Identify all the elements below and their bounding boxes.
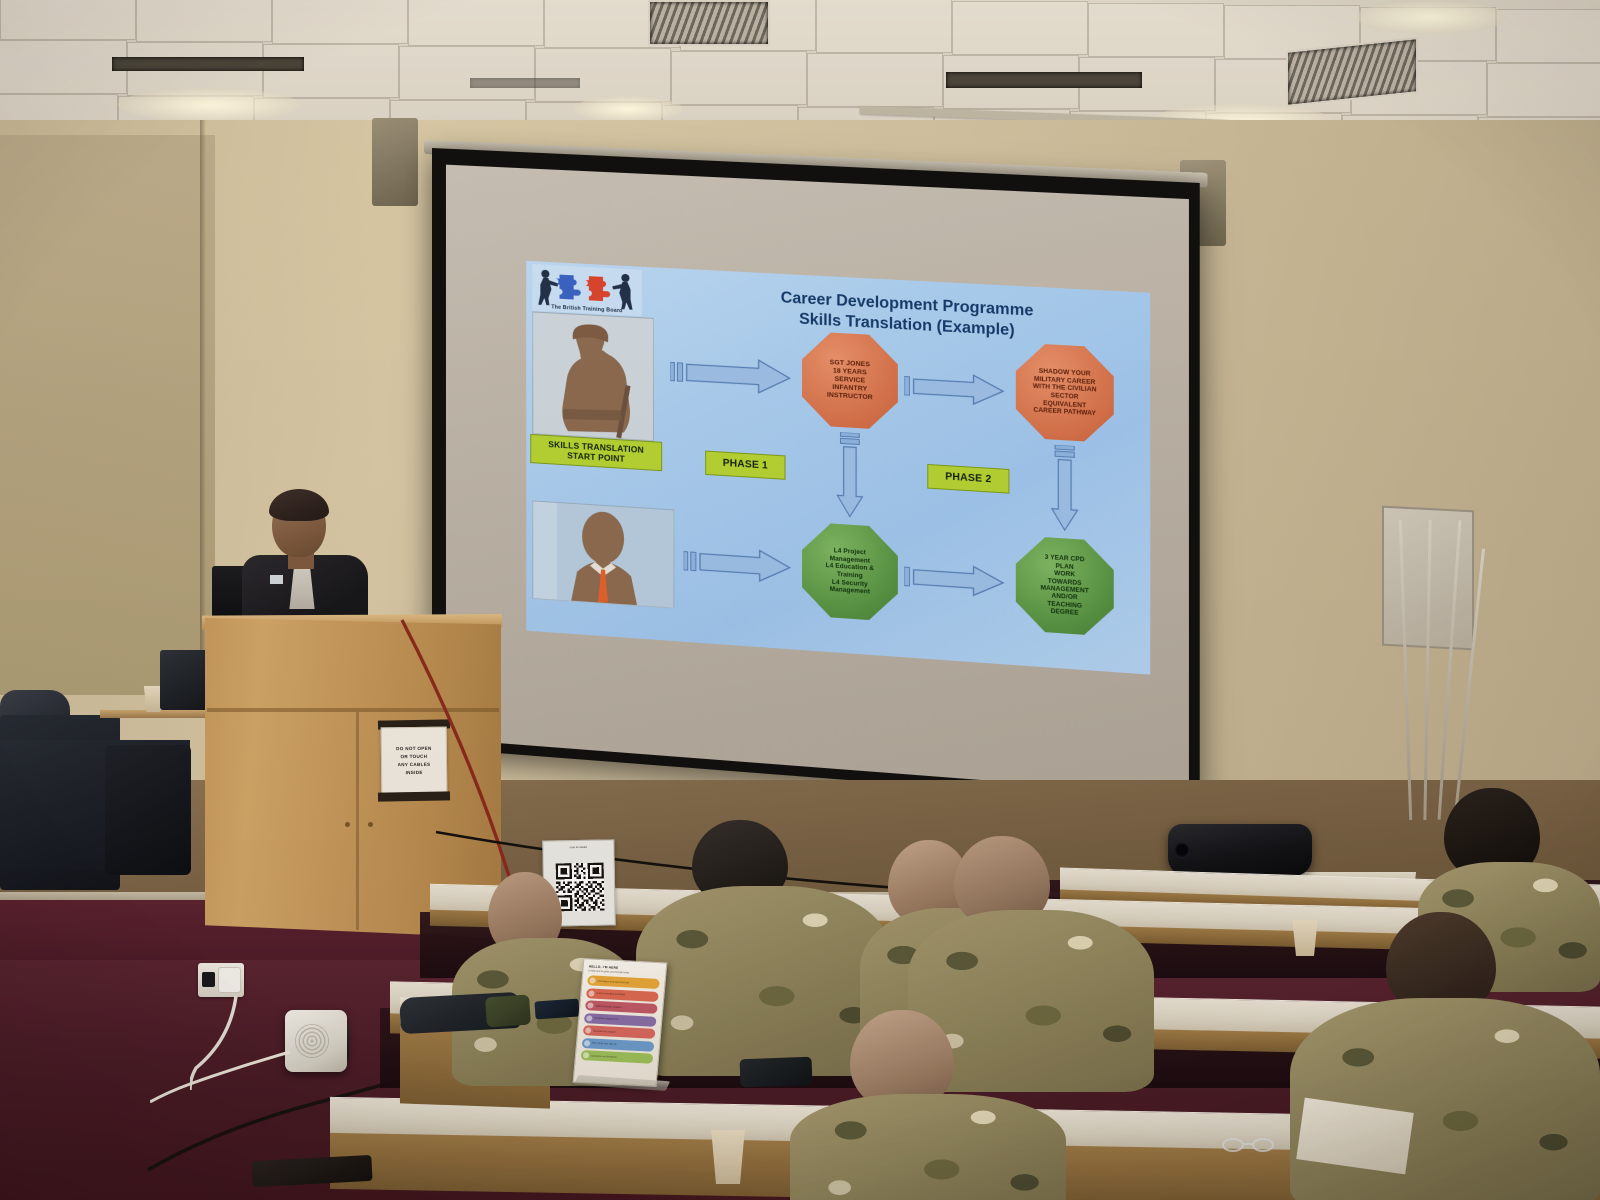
node-shadow-career-text: SHADOW YOURMILITARY CAREERWITH THE CIVIL… [1016, 362, 1114, 423]
projector-lens [1174, 842, 1190, 858]
soldier-uniform [790, 1094, 1066, 1200]
ceiling-tile [272, 0, 408, 44]
bag-strap [485, 995, 531, 1028]
ceiling-vent-slot [470, 78, 580, 88]
label-phase-1: PHASE 1 [705, 451, 785, 481]
projector [1168, 824, 1312, 876]
node-shadow-career: SHADOW YOURMILITARY CAREERWITH THE CIVIL… [1016, 343, 1114, 444]
ceiling-vent-slot [946, 72, 1142, 88]
ceiling-air-grille [648, 0, 770, 46]
classroom-scene: The British Training Board Career Develo… [0, 0, 1600, 1200]
flipchart-easel [1380, 508, 1484, 808]
node-cpd-plan: 3 YEAR CPDPLANWORKTOWARDSMANAGEMENTAND/O… [1016, 535, 1114, 637]
podium-door-split [356, 712, 359, 930]
ceiling-tile [1496, 9, 1600, 63]
arrow-right-2-icon [904, 370, 1005, 407]
ceiling-tile [816, 0, 952, 53]
businessman-silhouette-icon [533, 501, 673, 608]
ceiling-tile [952, 1, 1088, 55]
ceiling-tile [1088, 3, 1224, 57]
ceiling-tile [0, 40, 127, 94]
ceiling-light [573, 96, 683, 122]
arrow-right-4-icon [904, 561, 1005, 599]
ceiling-tile [408, 0, 544, 46]
tent-card-row: Next steps and sign up [582, 1038, 655, 1052]
ceiling-tile [671, 51, 807, 105]
ceiling-vent-slot [112, 57, 304, 71]
arrow-right-3-icon [684, 544, 792, 584]
ceiling-tile [535, 48, 671, 102]
label-phase-2: PHASE 2 [927, 464, 1009, 494]
tent-card-row: Employer engagement [584, 1013, 657, 1027]
ceiling-tile [1487, 63, 1600, 117]
ceiling-light [1356, 0, 1506, 34]
tent-card-row: Career transition workshop [586, 988, 659, 1002]
presenter [236, 493, 376, 628]
node-sgt-jones: SGT JONES18 YEARSSERVICEINFANTRYINSTRUCT… [802, 331, 898, 430]
socket-switch[interactable] [202, 972, 215, 987]
node-cpd-plan-text: 3 YEAR CPDPLANWORKTOWARDSMANAGEMENTAND/O… [1016, 548, 1114, 624]
wall-corner-edge [200, 120, 206, 680]
presenter-hair [269, 489, 329, 521]
presenter-badge [270, 575, 283, 584]
ceiling-tile [263, 44, 399, 98]
soldier-silhouette-icon [533, 312, 653, 440]
arrow-down-2-icon [1051, 445, 1079, 533]
soldier-photo [532, 311, 654, 441]
glasses-bridge [1243, 1143, 1254, 1145]
glasses-lens [1252, 1138, 1274, 1152]
mobile-phone [740, 1057, 813, 1087]
glasses-lens [1222, 1138, 1244, 1152]
mobile-phone [534, 998, 579, 1019]
tent-card-row: Resettlement support [583, 1025, 656, 1039]
wall-speaker [372, 118, 418, 206]
heater-cable [150, 1040, 300, 1110]
left-wall [0, 135, 215, 695]
soldier-uniform [1290, 998, 1600, 1200]
eyeglasses [1222, 1138, 1284, 1154]
node-l4-quals: L4 ProjectManagementL4 Education &Traini… [802, 522, 898, 622]
ceiling-tile [0, 0, 136, 40]
heater-grille [295, 1024, 329, 1058]
arrow-right-1-icon [670, 354, 791, 395]
suitcase [105, 745, 191, 875]
equipment-box [160, 650, 210, 710]
node-sgt-jones-text: SGT JONES18 YEARSSERVICEINFANTRYINSTRUCT… [802, 353, 898, 408]
ceiling-tile [807, 53, 943, 107]
ceiling-light [118, 88, 300, 122]
podium-knob[interactable] [345, 822, 350, 827]
ceiling-tile [399, 46, 535, 100]
slide-title: Career Development Programme Skills Tran… [689, 283, 1129, 348]
businessman-photo [532, 500, 674, 608]
qr-poster-heading: scan for details [548, 845, 608, 860]
node-l4-quals-text: L4 ProjectManagementL4 Education &Traini… [802, 541, 898, 602]
training-board-logo: The British Training Board [532, 264, 641, 316]
ceiling-tile [136, 0, 272, 42]
tent-card-rows: Orientation and welcome briefCareer tran… [581, 975, 660, 1063]
podium-knob[interactable] [368, 822, 373, 827]
arrow-down-1-icon [836, 432, 863, 520]
tent-card-row: Questions and feedback [581, 1050, 654, 1064]
table-tent-card: HELLO, I'M HERE to help and to guide you… [573, 958, 668, 1087]
seated-soldier [790, 1010, 1070, 1200]
tent-card-row: Orientation and welcome brief [587, 975, 660, 989]
tent-card-row: Skills translation session [585, 1000, 658, 1014]
